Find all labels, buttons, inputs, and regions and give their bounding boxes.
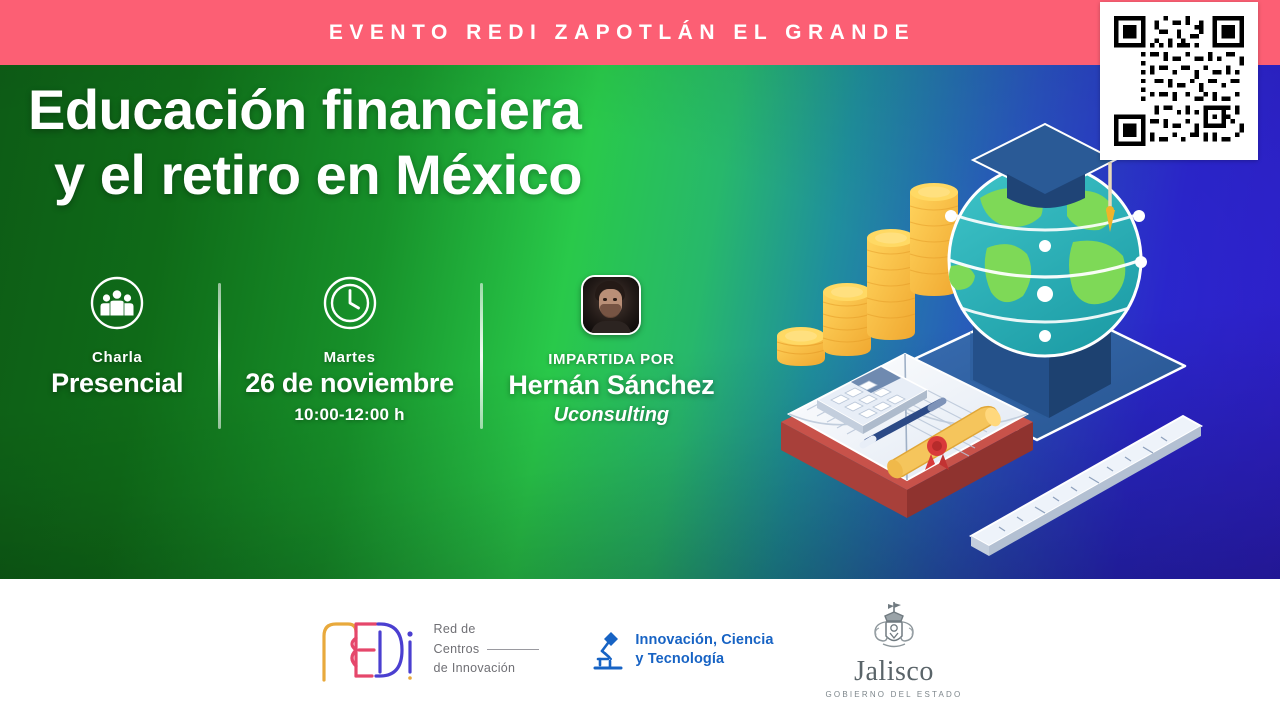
redi-tagline-line1: Red de bbox=[434, 620, 540, 639]
speaker-avatar bbox=[581, 275, 641, 335]
ict-wordmark: Innovación, Ciencia y Tecnología bbox=[635, 631, 773, 669]
jalisco-logo: Jalisco GOBIERNO DEL ESTADO bbox=[826, 600, 963, 699]
event-poster: EVENTO REDi ZAPOTLÁN EL GRANDE Educación… bbox=[0, 0, 1280, 720]
ict-line1: Innovación, Ciencia bbox=[635, 631, 773, 650]
redi-rule bbox=[487, 649, 539, 650]
coin-stack-1 bbox=[777, 327, 825, 366]
event-info-row: Charla Presencial Martes 26 de noviembre… bbox=[24, 275, 734, 505]
people-group-icon bbox=[89, 275, 145, 331]
jalisco-coat-of-arms-icon bbox=[863, 600, 925, 656]
banner-title: EVENTO REDi ZAPOTLÁN EL GRANDE bbox=[329, 21, 915, 45]
title-line-1: Educación financiera bbox=[28, 78, 728, 143]
page-title: Educación financiera y el retiro en Méxi… bbox=[28, 78, 728, 208]
qr-code-card[interactable] bbox=[1100, 2, 1258, 160]
jalisco-wordmark: Jalisco bbox=[854, 658, 934, 686]
date-day-month: 26 de noviembre bbox=[245, 368, 454, 399]
modality-label: Charla bbox=[92, 349, 142, 366]
redi-tagline-line3: de Innovación bbox=[434, 659, 540, 678]
modality-value: Presencial bbox=[51, 368, 183, 399]
coin-stack-2 bbox=[823, 283, 871, 356]
date-time: 10:00-12:00 h bbox=[294, 405, 404, 425]
redi-tagline: Red de Centros de Innovación bbox=[434, 620, 540, 678]
top-banner: EVENTO REDi ZAPOTLÁN EL GRANDE bbox=[0, 0, 1280, 65]
microscope-icon bbox=[591, 628, 625, 672]
speaker-organization: Uconsulting bbox=[554, 404, 670, 427]
clock-icon bbox=[322, 275, 378, 331]
innovacion-ciencia-tecnologia-logo: Innovación, Ciencia y Tecnología bbox=[591, 628, 773, 672]
info-date: Martes 26 de noviembre 10:00-12:00 h bbox=[229, 275, 469, 425]
date-weekday: Martes bbox=[324, 349, 376, 366]
footer-logos: Red de Centros de Innovación bbox=[0, 579, 1280, 720]
speaker-label: IMPARTIDA POR bbox=[548, 351, 674, 368]
jalisco-subtitle: GOBIERNO DEL ESTADO bbox=[826, 690, 963, 699]
divider-2 bbox=[480, 283, 483, 429]
info-modality: Charla Presencial bbox=[24, 275, 210, 399]
info-speaker: IMPARTIDA POR Hernán Sánchez Uconsulting bbox=[489, 275, 734, 427]
coin-stack-3 bbox=[867, 229, 915, 340]
title-line-2: y el retiro en México bbox=[28, 143, 728, 208]
speaker-name: Hernán Sánchez bbox=[508, 370, 714, 401]
ict-line2: y Tecnología bbox=[635, 650, 773, 669]
redi-logo: Red de Centros de Innovación bbox=[318, 614, 540, 686]
redi-tagline-line2: Centros bbox=[434, 642, 480, 656]
qr-code-icon bbox=[1114, 16, 1244, 146]
redi-wordmark-icon bbox=[318, 614, 422, 686]
divider-1 bbox=[218, 283, 221, 429]
